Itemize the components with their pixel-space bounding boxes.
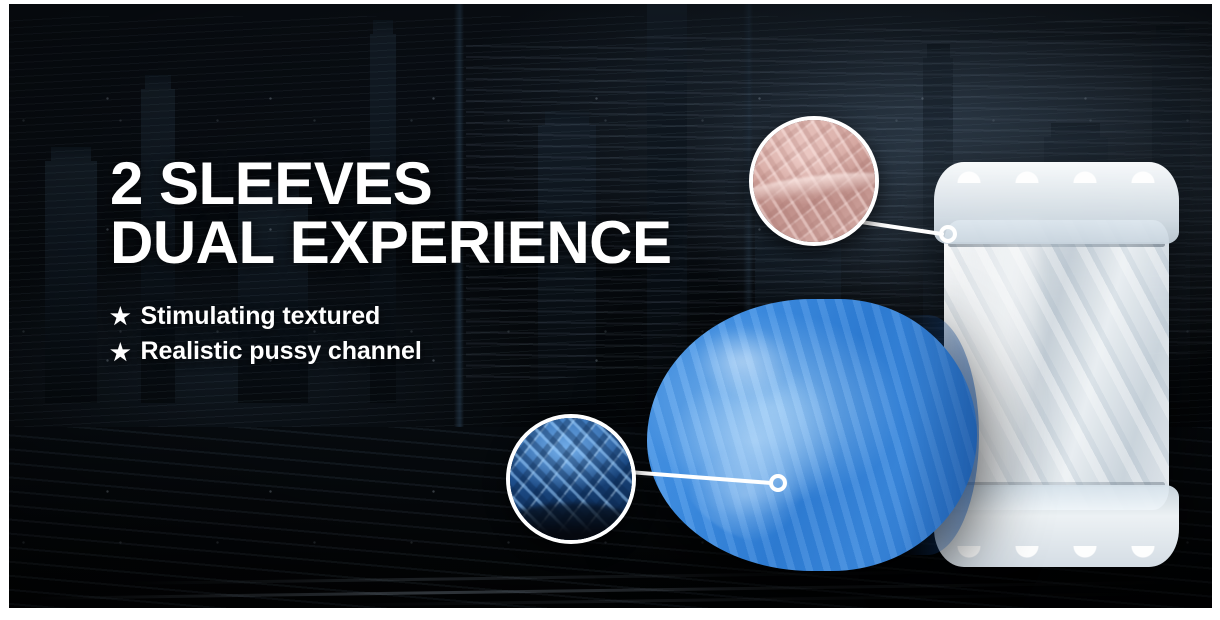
headline-line-2: DUAL EXPERIENCE <box>110 213 750 272</box>
banner-stage: 2 SLEEVES DUAL EXPERIENCE ★ Stimulating … <box>9 4 1212 608</box>
bottom-white-band <box>0 608 1220 620</box>
blue-sleeve-rim-shadow <box>867 315 979 554</box>
banner-copy: 2 SLEEVES DUAL EXPERIENCE ★ Stimulating … <box>110 154 750 370</box>
product-banner: 2 SLEEVES DUAL EXPERIENCE ★ Stimulating … <box>0 0 1220 620</box>
feature-label: Realistic pussy channel <box>141 334 422 370</box>
page-title: 2 SLEEVES DUAL EXPERIENCE <box>110 154 750 273</box>
white-sleeve-cap-top <box>934 162 1179 244</box>
star-icon: ★ <box>110 305 131 328</box>
star-icon: ★ <box>110 341 131 364</box>
list-item: ★ Realistic pussy channel <box>110 334 750 370</box>
list-item: ★ Stimulating textured <box>110 299 750 335</box>
feature-label: Stimulating textured <box>141 299 381 335</box>
headline-line-1: 2 SLEEVES <box>110 150 432 217</box>
white-sleeve-scallops <box>940 161 1173 183</box>
feature-list: ★ Stimulating textured ★ Realistic pussy… <box>110 299 750 370</box>
white-sleeve-body <box>944 220 1169 510</box>
